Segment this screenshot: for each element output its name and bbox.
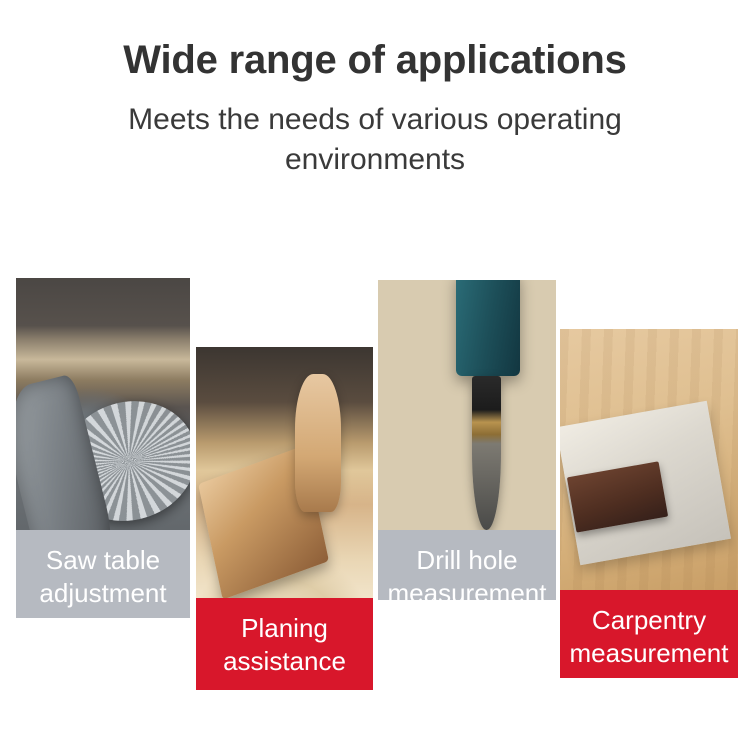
caption-line-2: measurement [562, 637, 736, 670]
page-title: Wide range of applications [0, 40, 750, 80]
caption-line-1: Saw table [18, 544, 188, 577]
drill-hole-caption: Drill hole measurement [378, 530, 556, 600]
page-subtitle: Meets the needs of various operating env… [95, 100, 655, 179]
application-showcase-page: Wide range of applications Meets the nee… [0, 0, 750, 750]
application-card-planing[interactable]: Planing assistance [196, 347, 373, 690]
application-card-saw-table[interactable]: Saw table adjustment [16, 278, 190, 618]
caption-line-1: Planing [198, 612, 371, 645]
application-card-drill-hole[interactable]: Drill hole measurement [378, 280, 556, 600]
caption-line-2: measurement [380, 577, 554, 600]
caption-line-1: Carpentry [562, 604, 736, 637]
caption-line-2: assistance [198, 645, 371, 678]
application-card-carpentry[interactable]: Carpentry measurement [560, 329, 738, 678]
saw-table-caption: Saw table adjustment [16, 530, 190, 618]
header: Wide range of applications Meets the nee… [0, 0, 750, 179]
carpentry-caption: Carpentry measurement [560, 590, 738, 678]
caption-line-1: Drill hole [380, 544, 554, 577]
planing-caption: Planing assistance [196, 598, 373, 690]
caption-line-2: adjustment [18, 577, 188, 610]
